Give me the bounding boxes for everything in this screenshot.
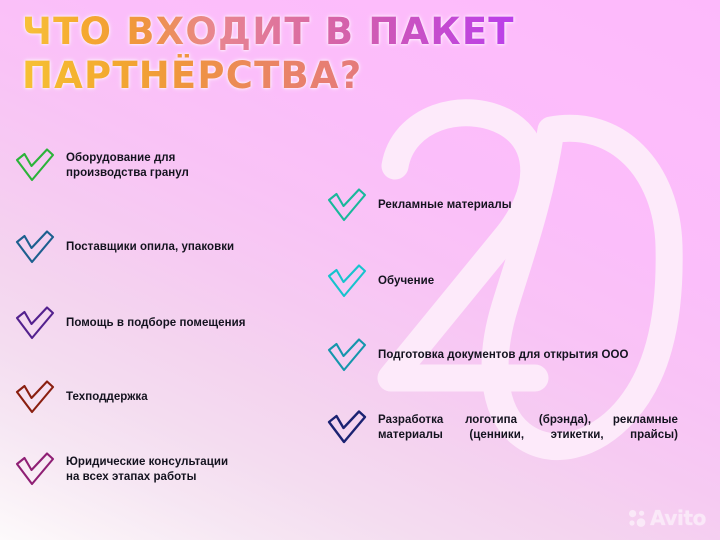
list-item-label: Рекламные материалы [378, 186, 512, 213]
page-title-line-2: ПАРТНЁРСТВА? [22, 54, 582, 98]
list-item: Разработка логотипа (брэнда), рекламные … [326, 408, 678, 457]
check-icon [14, 450, 56, 490]
list-item: Обучение [326, 262, 434, 302]
list-item: Помощь в подборе помещения [14, 304, 245, 344]
list-item-label: Оборудование дляпроизводства гранул [66, 146, 189, 180]
page-title: ЧТО ВХОДИТ В ПАКЕТ ПАРТНЁРСТВА? [22, 10, 582, 98]
check-icon [326, 262, 368, 302]
check-icon [326, 186, 368, 226]
list-item-label: Помощь в подборе помещения [66, 304, 245, 331]
page-title-line-1: ЧТО ВХОДИТ В ПАКЕТ [22, 10, 582, 54]
list-item-label: Юридические консультациина всех этапах р… [66, 450, 228, 484]
list-item-label: Техподдержка [66, 378, 148, 405]
list-item: Поставщики опила, упаковки [14, 228, 234, 268]
list-item-label: Обучение [378, 262, 434, 289]
list-item: Оборудование дляпроизводства гранул [14, 146, 189, 186]
list-item: Рекламные материалы [326, 186, 512, 226]
check-icon [14, 146, 56, 186]
check-icon [326, 408, 368, 448]
list-item: Юридические консультациина всех этапах р… [14, 450, 228, 490]
avito-logo-icon [628, 509, 647, 528]
check-icon [14, 228, 56, 268]
check-icon [326, 336, 368, 376]
avito-wordmark: Avito [650, 508, 706, 528]
avito-watermark: Avito [628, 508, 706, 528]
list-item-label: Подготовка документов для открытия ООО [378, 336, 688, 363]
list-item: Техподдержка [14, 378, 148, 418]
list-item-label: Разработка логотипа (брэнда), рекламные … [378, 408, 678, 457]
list-item-label: Поставщики опила, упаковки [66, 228, 234, 255]
poster-canvas: ЧТО ВХОДИТ В ПАКЕТ ПАРТНЁРСТВА? Оборудов… [0, 0, 720, 540]
list-item: Подготовка документов для открытия ООО [326, 336, 688, 376]
check-icon [14, 304, 56, 344]
check-icon [14, 378, 56, 418]
